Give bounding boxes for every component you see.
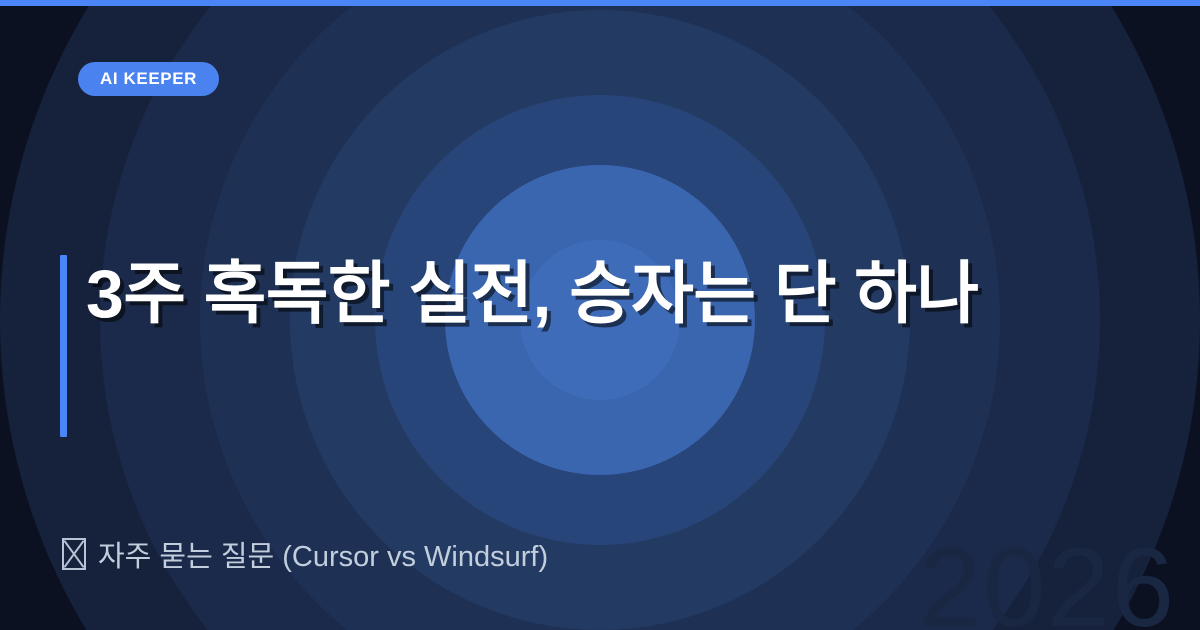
headline-block: 3주 혹독한 실전, 승자는 단 하나 xyxy=(60,255,1060,437)
headline-accent-bar xyxy=(60,255,67,437)
top-accent-bar xyxy=(0,0,1200,6)
missing-glyph-box-icon xyxy=(62,538,86,570)
social-card-banner: AI KEEPER 3주 혹독한 실전, 승자는 단 하나 자주 묻는 질문 (… xyxy=(0,0,1200,630)
brand-badge[interactable]: AI KEEPER xyxy=(78,62,219,96)
subtitle-row: 자주 묻는 질문 (Cursor vs Windsurf) xyxy=(62,533,548,575)
page-title: 3주 혹독한 실전, 승자는 단 하나 xyxy=(67,255,978,437)
brand-badge-label: AI KEEPER xyxy=(100,69,197,89)
year-watermark: 2026 xyxy=(919,532,1176,630)
subtitle-label: 자주 묻는 질문 (Cursor vs Windsurf) xyxy=(98,533,548,575)
